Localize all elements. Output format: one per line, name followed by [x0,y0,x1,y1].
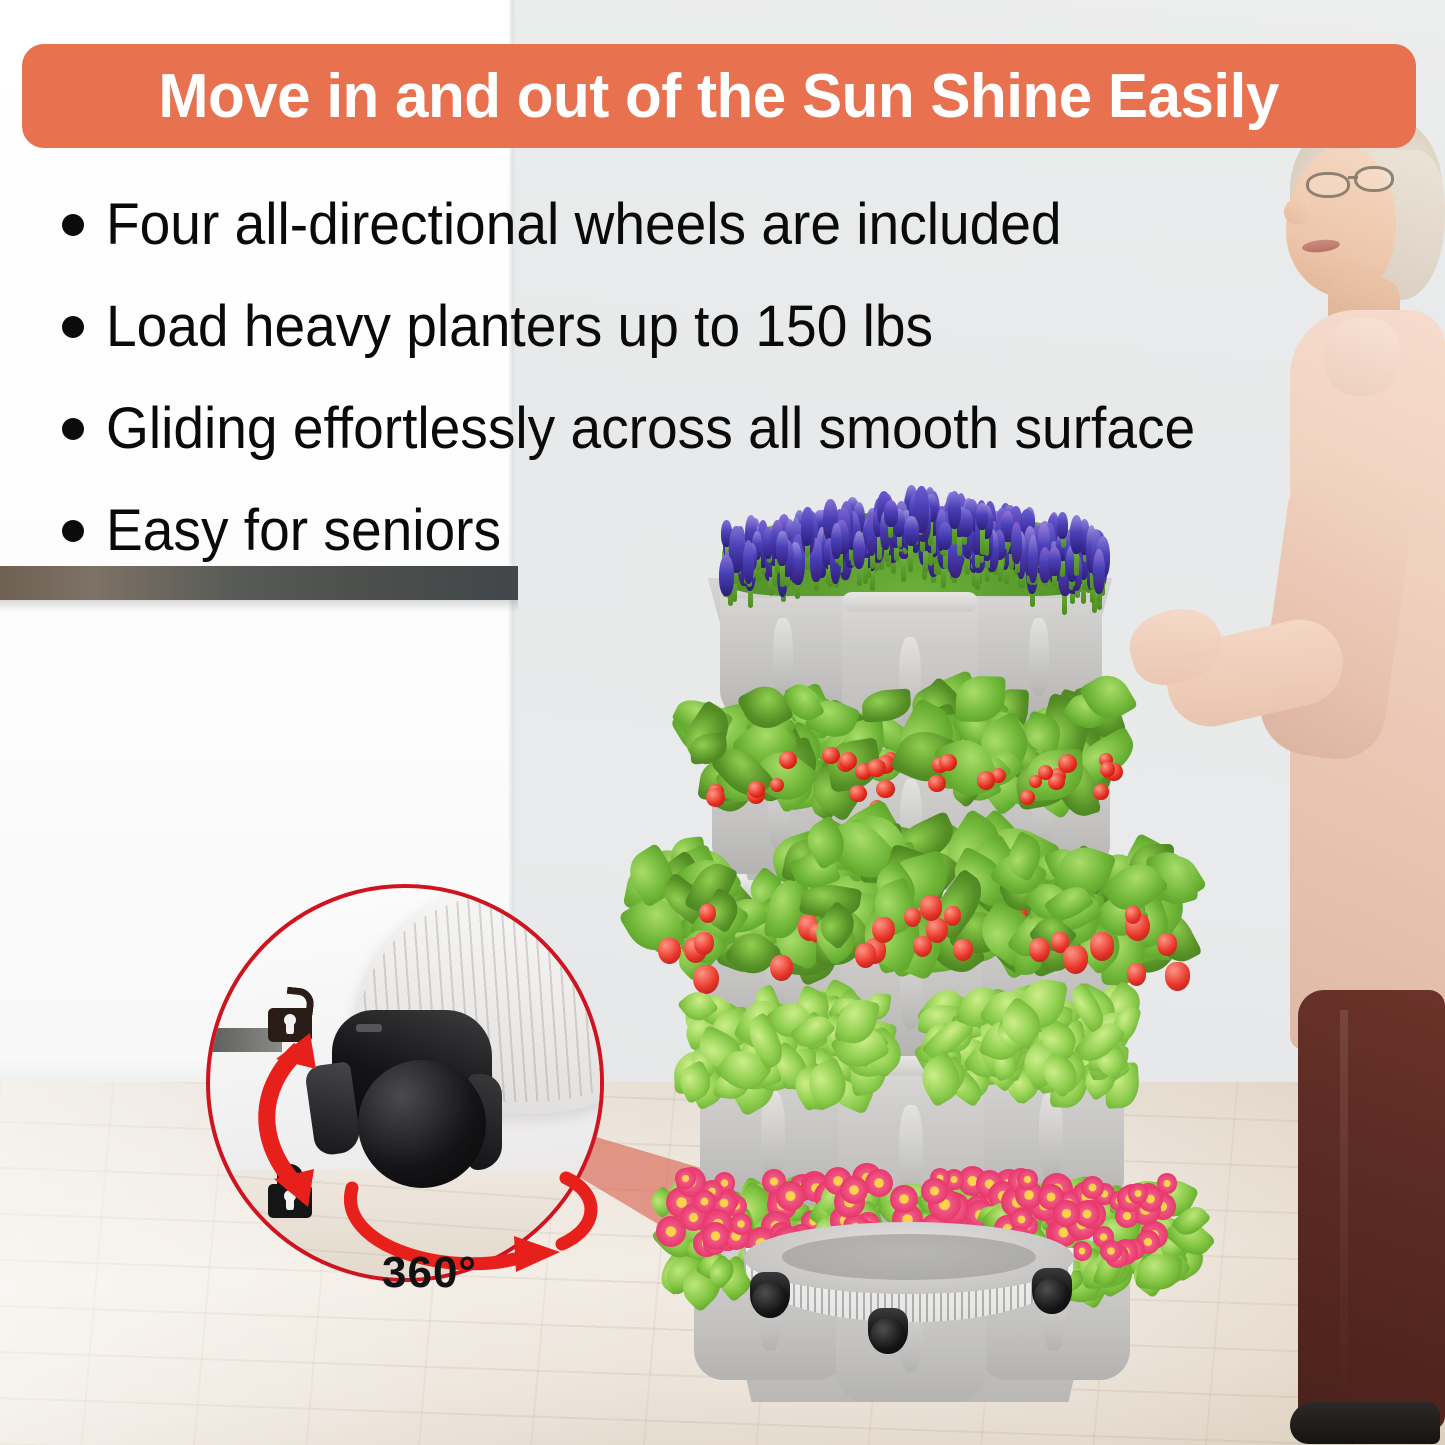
plant-strawberry [668,832,1152,964]
list-item: Four all-directional wheels are included [62,188,1422,262]
eyeglasses-bridge [1348,176,1358,179]
base-inner-well [782,1234,1036,1280]
plant-basil [680,990,1140,1110]
bullet-label: Gliding effortlessly across all smooth s… [106,392,1195,466]
bullet-label: Four all-directional wheels are included [106,188,1062,262]
bullet-label: Load heavy planters up to 150 lbs [106,290,933,364]
list-item: Load heavy planters up to 150 lbs [62,290,1422,364]
header-banner: Move in and out of the Sun Shine Easily [22,44,1416,148]
callout-caster-slot [356,1024,382,1032]
bullet-dot-icon [62,214,84,236]
counter-edge-shadow [0,600,518,612]
list-item: Easy for seniors [62,494,1422,568]
wheel [752,1282,788,1318]
trouser-crease [1340,1010,1348,1410]
bullet-label: Easy for seniors [106,494,501,568]
list-item: Gliding effortlessly across all smooth s… [62,392,1422,466]
bullet-dot-icon [62,418,84,440]
wheel [870,1318,906,1354]
caster-wheel-right [1032,1268,1072,1314]
header-title: Move in and out of the Sun Shine Easily [159,61,1280,132]
bullet-dot-icon [62,316,84,338]
plant-cherry-tomato [686,684,1134,804]
feature-bullet-list: Four all-directional wheels are included… [62,188,1422,596]
shoe [1290,1402,1440,1444]
caster-wheel-left [750,1272,790,1318]
label-360-degrees: 360° [382,1248,477,1298]
bullet-dot-icon [62,520,84,542]
caster-base [744,1222,1074,1352]
caster-wheel-front [868,1308,908,1354]
trousers [1298,990,1445,1430]
wheel [1034,1278,1070,1314]
